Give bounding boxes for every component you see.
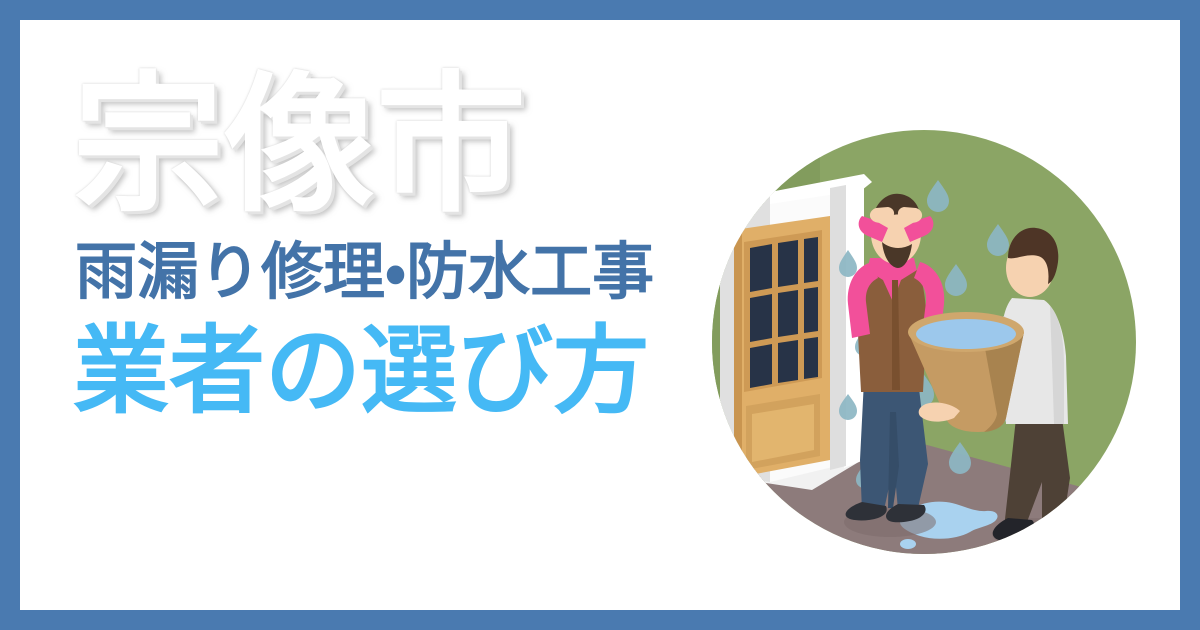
door-right-jamb-shade [830, 185, 846, 470]
door-leaf-edge [734, 229, 742, 478]
roof-leak-illustration [712, 130, 1136, 554]
page-title-city: 宗像市 [73, 70, 725, 220]
bucket-water [916, 319, 1016, 349]
banner-inner-panel: 宗像市 雨漏り修理・防水工事 業者の選び方 [20, 20, 1180, 610]
banner-root: 宗像市 雨漏り修理・防水工事 業者の選び方 [0, 0, 1200, 630]
door-glass-panes [750, 237, 818, 388]
page-subtitle-service: 雨漏り修理・防水工事 [75, 242, 725, 304]
headline-text-block: 宗像市 雨漏り修理・防水工事 業者の選び方 [65, 70, 725, 420]
page-lead-how-to-choose: 業者の選び方 [73, 324, 725, 420]
illustration-scene [712, 130, 1136, 554]
roof-leak-illustration-svg [712, 130, 1136, 554]
